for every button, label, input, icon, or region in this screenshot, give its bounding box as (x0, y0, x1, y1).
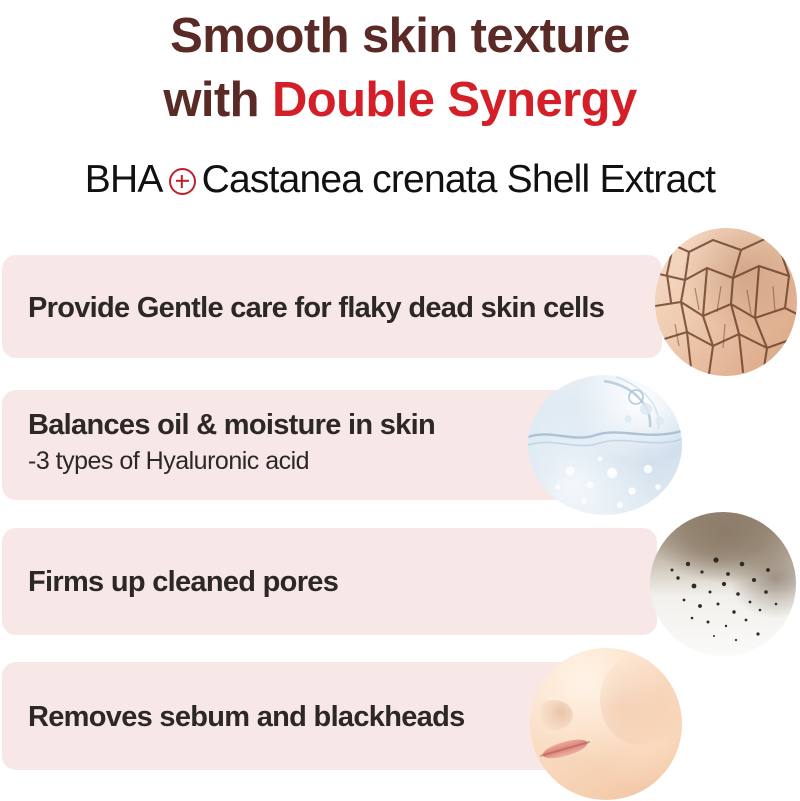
benefit-rows: Provide Gentle care for flaky dead skin … (0, 0, 800, 801)
benefit-main-1: Provide Gentle care for flaky dead skin … (28, 291, 604, 325)
dry-cracked-skin-photo (655, 228, 797, 376)
infographic-page: Smooth skin texture with Double Synergy … (0, 0, 800, 801)
cheek-highlight (600, 654, 679, 745)
charcoal-powder-photo (650, 512, 796, 656)
benefit-main-4: Removes sebum and blackheads (28, 700, 465, 734)
crack-pattern-icon (655, 228, 797, 376)
benefit-main-3: Firms up cleaned pores (28, 565, 338, 599)
nose-shadow (533, 700, 573, 730)
benefit-text-2: Balances oil & moisture in skin -3 types… (28, 408, 435, 477)
water-splash-photo (528, 375, 682, 515)
benefit-sub-2: -3 types of Hyaluronic acid (28, 445, 435, 477)
benefit-text-4: Removes sebum and blackheads (28, 700, 465, 734)
powder-speckle-icon (650, 512, 796, 656)
water-ripple-icon (528, 375, 682, 515)
benefit-text-1: Provide Gentle care for flaky dead skin … (28, 291, 604, 325)
benefit-text-3: Firms up cleaned pores (28, 565, 338, 599)
face-cheek-skin-photo (530, 648, 682, 800)
benefit-main-2: Balances oil & moisture in skin (28, 408, 435, 442)
